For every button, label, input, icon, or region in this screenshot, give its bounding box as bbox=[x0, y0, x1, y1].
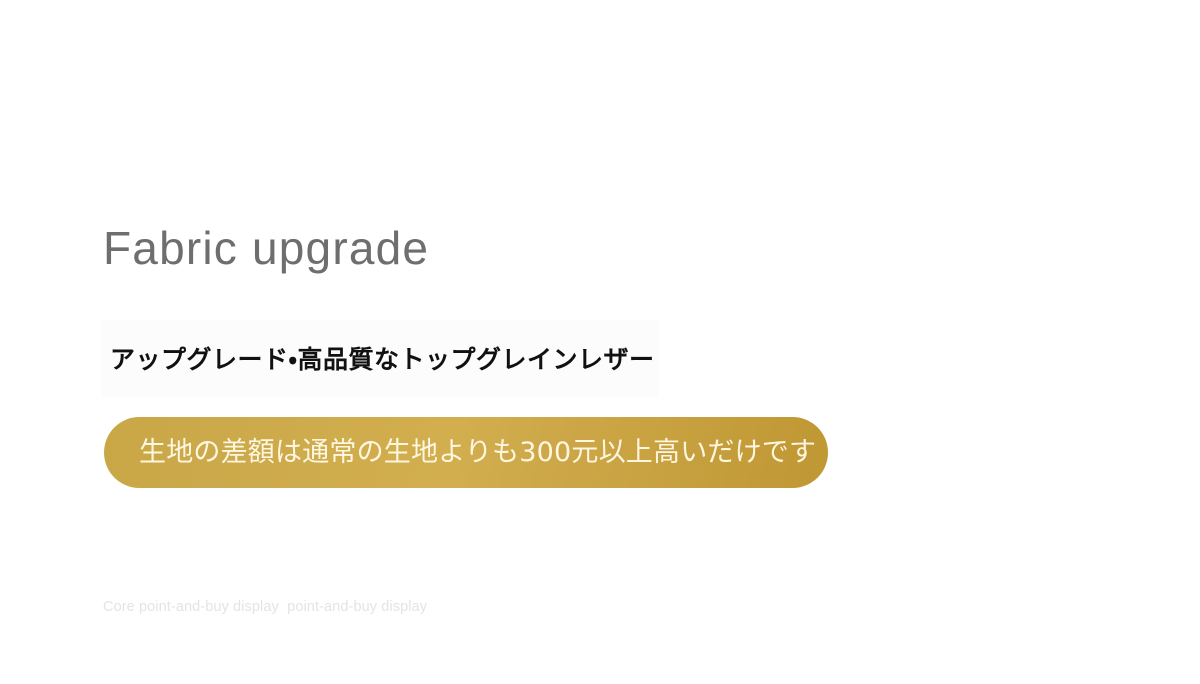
eyebrow-title: Fabric upgrade bbox=[103, 222, 429, 275]
footer-caption: Core point-and-buy display point-and-buy… bbox=[103, 598, 427, 617]
price-callout-text: 生地の差額は通常の生地よりも300元以上高いだけです bbox=[139, 437, 816, 469]
slide-canvas: Fabric upgrade アップグレード・高品質なトップグレインレザー 生地… bbox=[0, 0, 1200, 684]
headline-text: アップグレード・高品質なトップグレインレザー bbox=[110, 344, 655, 375]
